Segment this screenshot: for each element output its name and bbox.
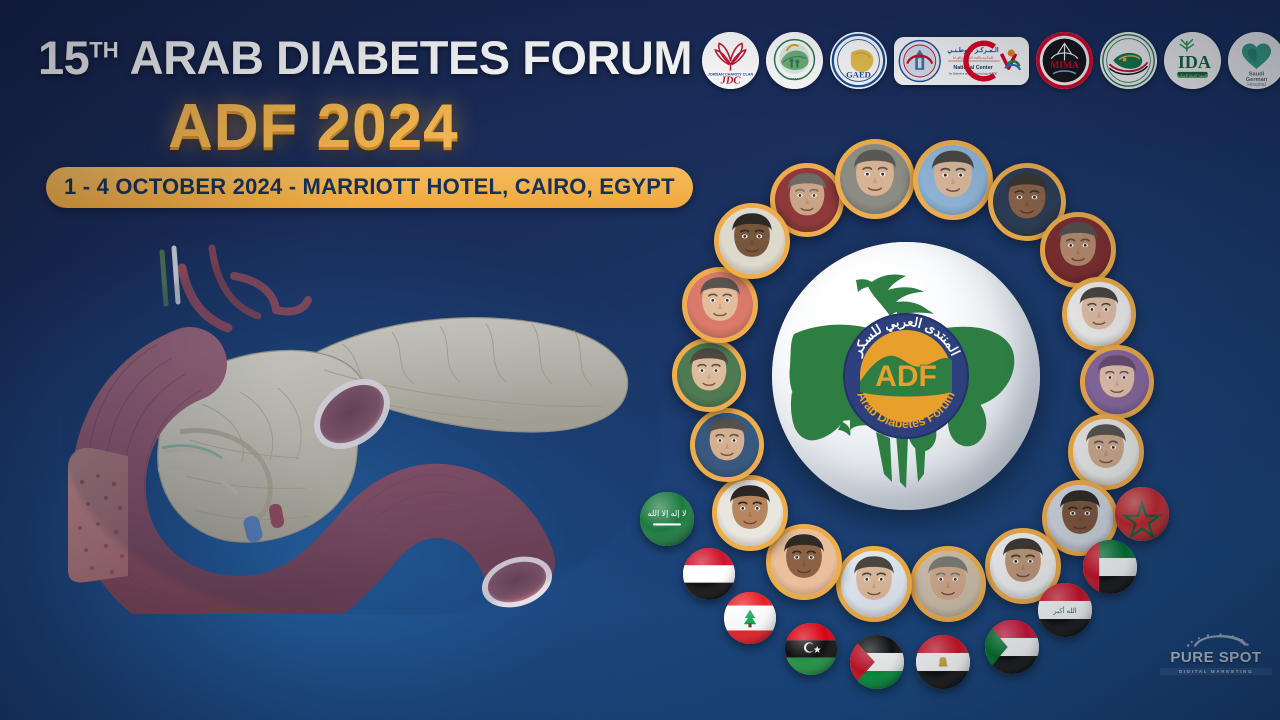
flag-saudi-arabia[interactable]: لا إله إلا الله [640,492,694,546]
speaker-portrait-2[interactable] [835,139,915,219]
speaker-portrait-3[interactable] [913,140,993,220]
svg-text:الجمعية الدولية للسكري: الجمعية الدولية للسكري [1177,73,1209,77]
watermark-arc-icon [1160,632,1272,650]
edition-ordinal: TH [89,37,118,62]
speaker-portrait-16[interactable] [672,338,746,412]
sponsor-logo-mima[interactable]: MIMA [1036,32,1093,89]
page-title: 15TH ARAB DIABETES FORUM [38,34,692,81]
flag-morocco[interactable] [1115,487,1169,541]
sponsor-logo-saudi-german-hospital[interactable]: Saudi German Hospital [1228,32,1280,89]
sponsor-4-label: MIMA [1050,61,1079,71]
sponsor-0-label: JDC [720,75,742,86]
speaker-portrait-18[interactable] [714,203,790,279]
agency-watermark: PURE SPOT DIGITAL MARKETING [1160,632,1272,688]
sponsor-logo-gaed[interactable]: GAED [830,32,887,89]
title-main: ARAB DIABETES FORUM [130,31,692,84]
speaker-portrait-12[interactable] [836,546,912,622]
speaker-portrait-15[interactable] [690,408,764,482]
date-venue-badge: 1 - 4 OCTOBER 2024 - MARRIOTT HOTEL, CAI… [46,167,693,208]
eagle-emblem [856,274,934,316]
flag-egypt[interactable] [916,635,970,689]
sponsor-logo-jdc[interactable]: JORDAN CHARITY CLAN JDC [702,32,759,89]
sponsor-logo-strip: JORDAN CHARITY CLAN JDC ●●●●●●●● [702,32,1280,89]
svg-text:●●●●●●●●: ●●●●●●●● [787,77,802,81]
edition-number: 15 [38,31,89,84]
flag-united-arab-emirates[interactable] [1083,540,1137,594]
sponsor-logo-ncde[interactable]: الـمـركـز الـوطـنـي للسكري والغدد الصماء… [894,37,1029,85]
flag-lebanon[interactable] [724,592,776,644]
flag-sudan[interactable] [985,620,1039,674]
flag-libya[interactable] [785,623,837,675]
watermark-tagline: DIGITAL MARKETING [1160,668,1272,675]
flag-iraq[interactable]: الله أكبر [1038,583,1092,637]
svg-text:Hospital: Hospital [1247,82,1266,88]
adf-acronym: ADF [875,360,937,393]
speaker-portrait-6[interactable] [1062,277,1136,351]
acronym-year: ADF 2024 [168,96,459,158]
adf-emblem-globe: المنتدى العربي للسكر Arab Diabetes Forum… [772,242,1040,510]
watermark-brand: PURE SPOT [1160,650,1272,665]
sponsor-6-label: IDA [1178,52,1211,72]
sponsor-2-label: GAED [846,70,871,80]
flag-palestine[interactable] [850,635,904,689]
pancreas-duodenum-anatomy [62,232,662,614]
banner-canvas: 15TH ARAB DIABETES FORUM ADF 2024 1 - 4 … [0,0,1280,720]
speaker-portrait-8[interactable] [1068,414,1144,490]
speaker-portrait-14[interactable] [712,475,788,551]
sponsor-3-label: National Center [953,65,992,71]
speaker-portrait-11[interactable] [910,546,986,622]
sponsor-logo-saudi-diabetes-endocrine-association[interactable]: ●●●●●●●● [766,32,823,89]
sponsor-logo-ida[interactable]: IDA الجمعية الدولية للسكري [1164,32,1221,89]
sponsor-logo-kuwait-diabetes-society[interactable] [1100,32,1157,89]
speaker-portrait-7[interactable] [1080,345,1154,419]
svg-text:للسكري والغدد الصماء والوراثة: للسكري والغدد الصماء والوراثة [953,55,994,59]
flag-yemen[interactable] [683,548,735,600]
